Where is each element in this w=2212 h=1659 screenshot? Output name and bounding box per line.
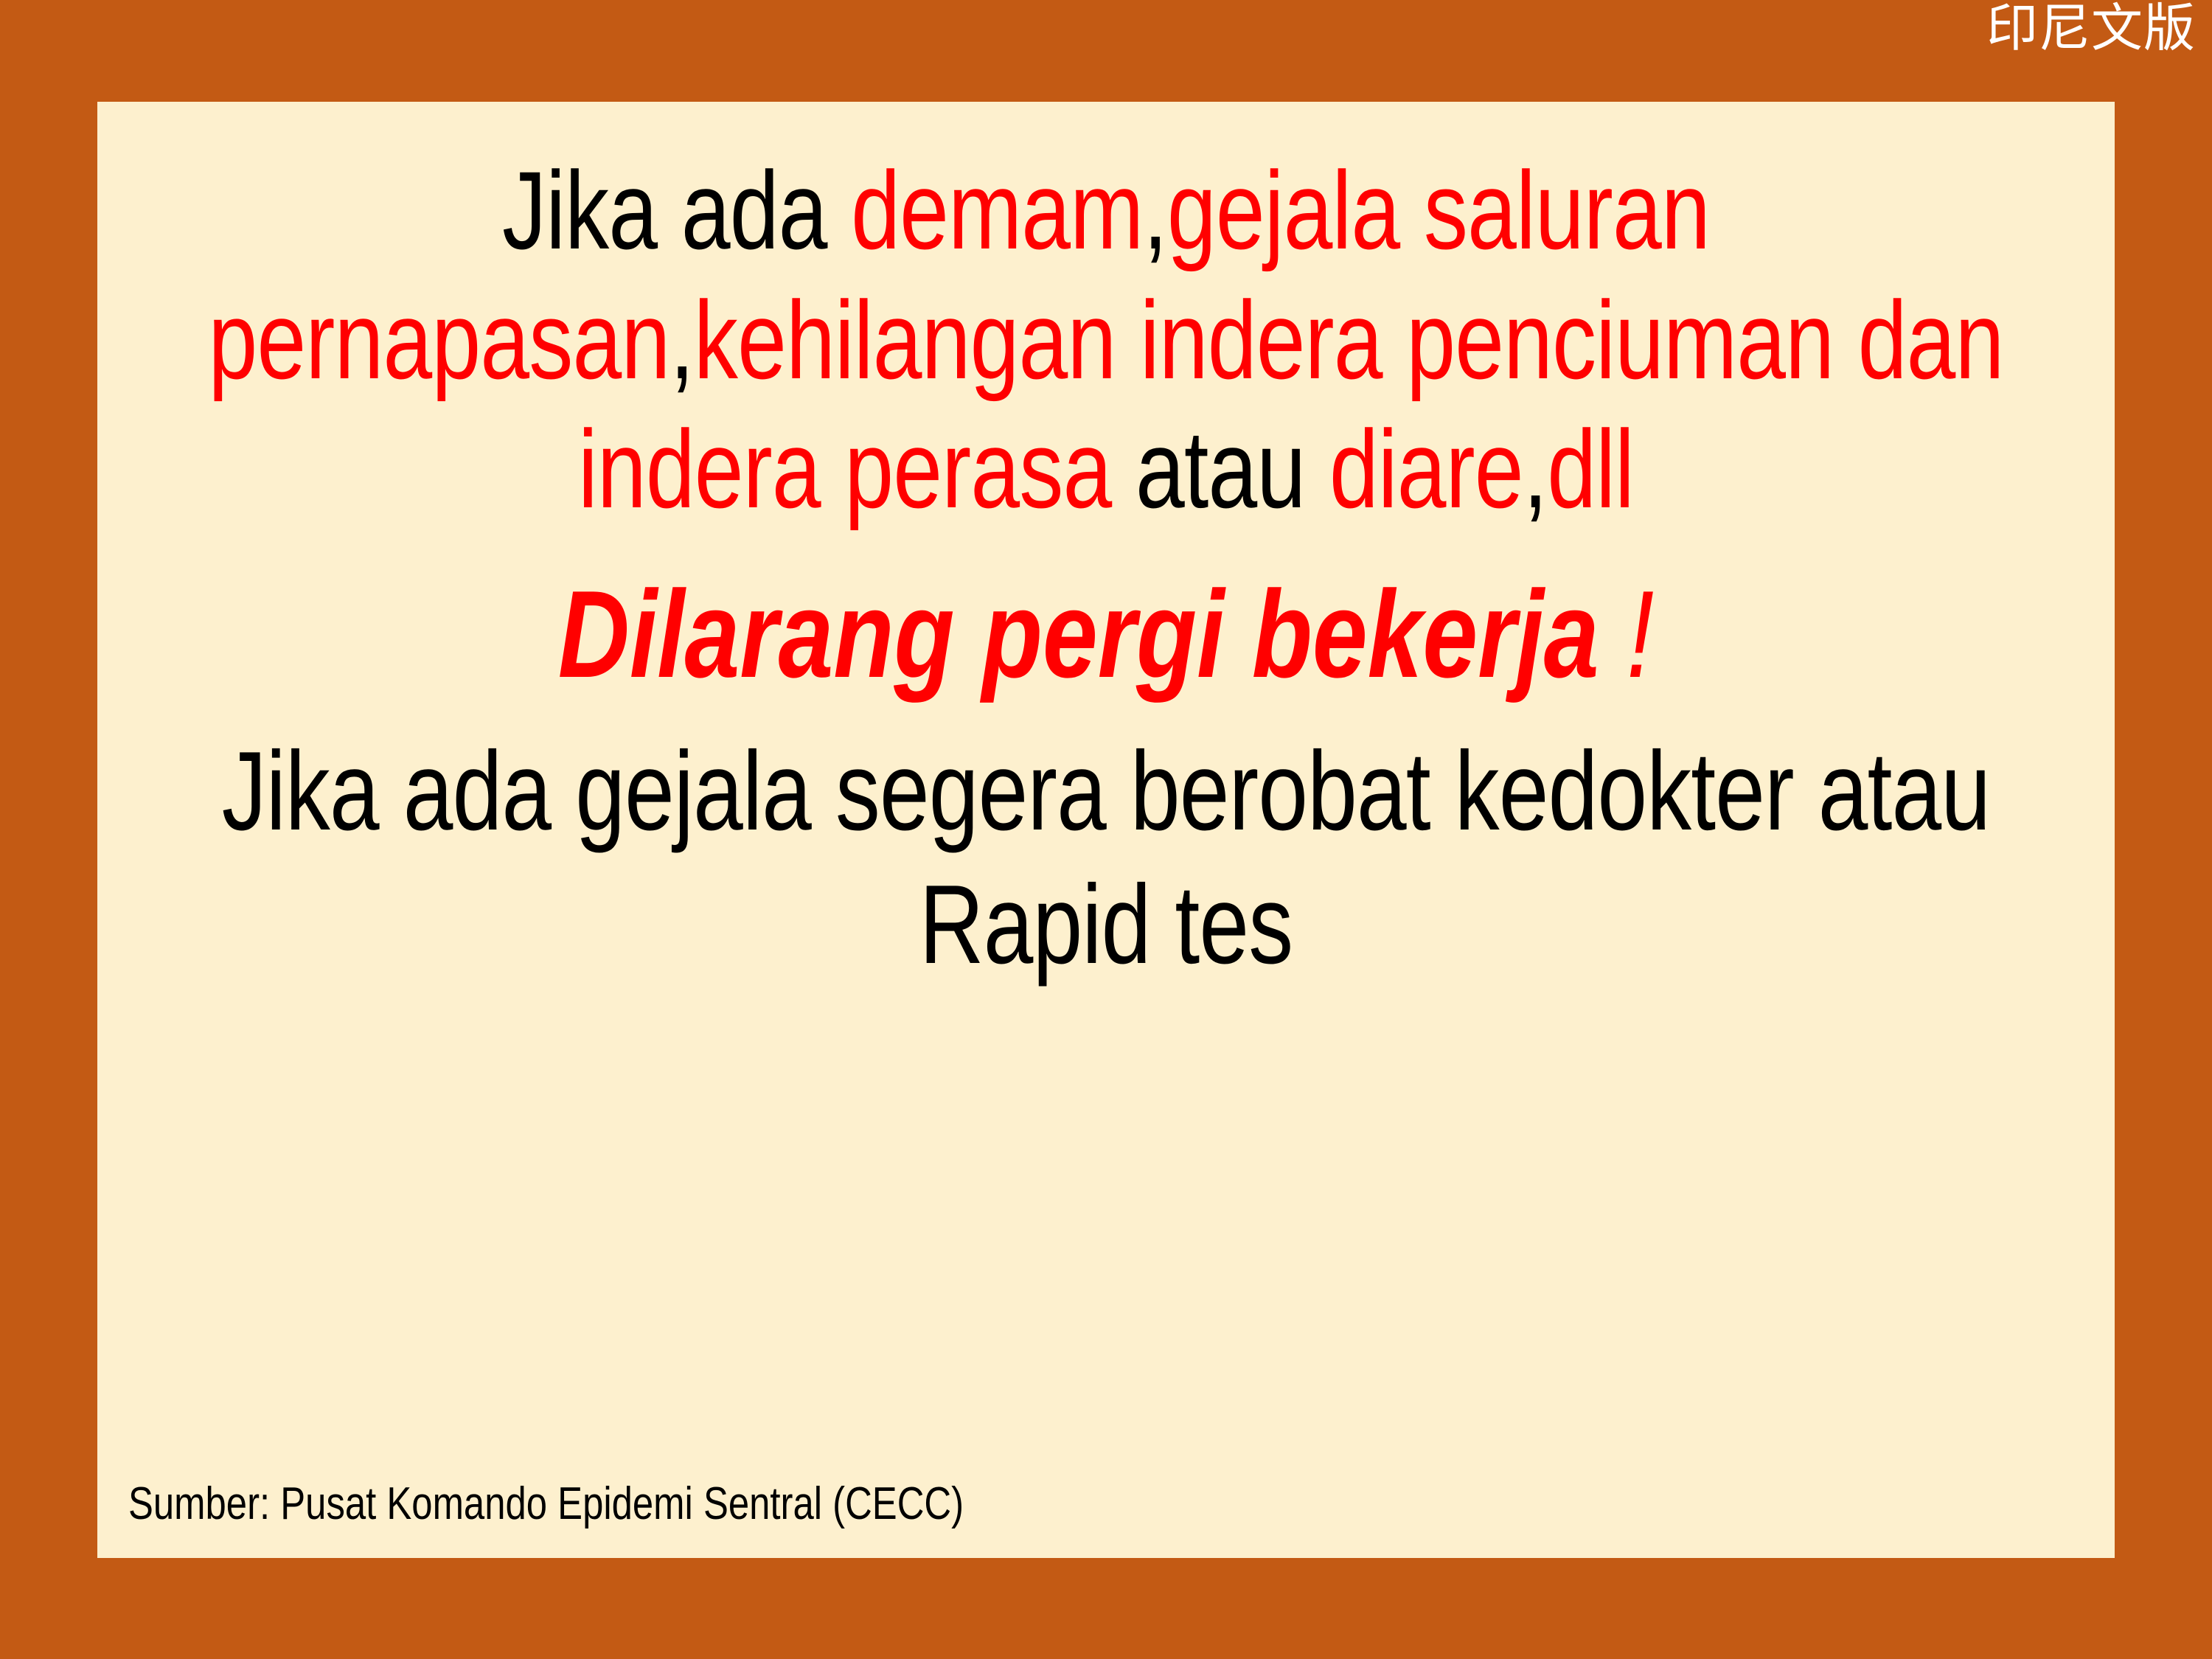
symptoms-paragraph: Jika ada demam,gejala saluran pernapasan… [127,146,2085,535]
language-version-badge: 印尼文版 [1986,1,2196,56]
symptoms-seg-8: , [1523,407,1548,531]
ban-notice-main: Dilarang pergi bekerja [558,565,1599,703]
symptoms-seg-2: , [1143,148,1167,272]
poster-slide: 印尼文版 Jika ada demam,gejala saluran perna… [0,0,2212,1659]
symptoms-seg-1: demam [851,148,1143,272]
ban-notice-exclamation: ! [1599,565,1655,703]
source-note: Sumber: Pusat Komando Epidemi Sentral (C… [128,1481,964,1527]
content-panel: Jika ada demam,gejala saluran pernapasan… [97,102,2115,1558]
ban-notice-paragraph: Dilarang pergi bekerja ! [127,535,2085,714]
body-copy: Jika ada demam,gejala saluran pernapasan… [97,102,2115,992]
symptoms-seg-6: atau [1135,407,1329,531]
symptoms-seg-9: dll [1547,407,1634,531]
symptoms-seg-0: Jika ada [502,148,851,272]
symptoms-seg-7: diare [1329,407,1523,531]
advice-paragraph: Jika ada gejala segera berobat kedokter … [127,714,2085,992]
symptoms-seg-4: , [669,278,694,402]
